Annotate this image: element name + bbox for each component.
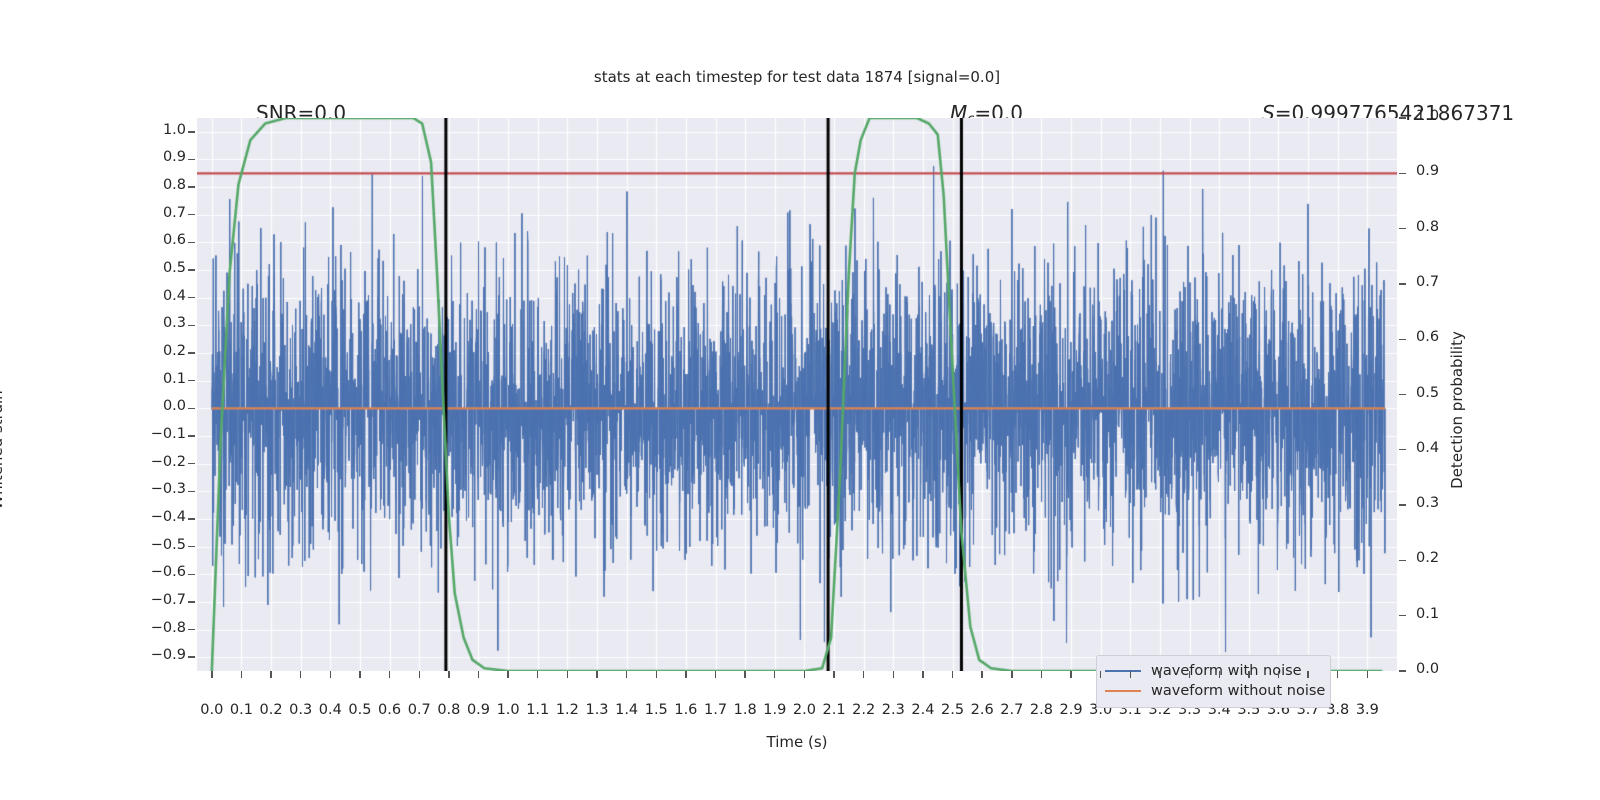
- x-tick-mark: [1159, 671, 1160, 678]
- x-tick-mark: [656, 671, 657, 678]
- x-tick-mark: [1130, 671, 1131, 678]
- y-tick-mark-left: [188, 269, 195, 270]
- x-tick-mark: [1070, 671, 1071, 678]
- y-tick-mark-right: [1399, 173, 1406, 174]
- x-tick-mark: [1367, 671, 1368, 678]
- x-tick-mark: [596, 671, 597, 678]
- y-tick-mark-right: [1399, 283, 1406, 284]
- y-tick-mark-left: [188, 491, 195, 492]
- legend-item[interactable]: waveform without noise: [1105, 681, 1322, 701]
- x-tick-mark: [1041, 671, 1042, 678]
- legend-item[interactable]: waveform with noise: [1105, 661, 1322, 681]
- x-tick-mark: [893, 671, 894, 678]
- x-tick-mark: [1011, 671, 1012, 678]
- y-tick-mark-left: [188, 601, 195, 602]
- x-tick-mark: [1248, 671, 1249, 678]
- y-tick-mark-left: [188, 574, 195, 575]
- x-tick-mark: [922, 671, 923, 678]
- plot-canvas: [197, 118, 1397, 671]
- legend-swatch-waveform-without-noise: [1105, 690, 1141, 693]
- y-tick-mark-right: [1399, 615, 1406, 616]
- y-tick-mark-left: [188, 242, 195, 243]
- x-tick-mark: [1307, 671, 1308, 678]
- x-tick-mark: [478, 671, 479, 678]
- y-tick-mark-left: [188, 546, 195, 547]
- x-tick-mark: [744, 671, 745, 678]
- x-tick-mark: [685, 671, 686, 678]
- y-tick-mark-left: [188, 297, 195, 298]
- x-tick-mark: [389, 671, 390, 678]
- y-tick-mark-left: [188, 186, 195, 187]
- x-tick-mark: [804, 671, 805, 678]
- x-tick-mark: [567, 671, 568, 678]
- x-tick-mark: [1189, 671, 1190, 678]
- y-tick-mark-left: [188, 463, 195, 464]
- plot-area: [197, 118, 1397, 671]
- legend: waveform with noise waveform without noi…: [1096, 655, 1331, 708]
- y-tick-mark-right: [1399, 560, 1406, 561]
- x-tick-mark: [626, 671, 627, 678]
- x-tick-mark: [863, 671, 864, 678]
- y-tick-mark-left: [188, 408, 195, 409]
- x-tick-mark: [715, 671, 716, 678]
- y-tick-mark-left: [188, 325, 195, 326]
- x-tick-mark: [537, 671, 538, 678]
- x-tick-mark: [419, 671, 420, 678]
- y-tick-mark-left: [188, 629, 195, 630]
- x-tick-mark: [300, 671, 301, 678]
- legend-label-waveform-without-noise: waveform without noise: [1151, 683, 1325, 699]
- x-tick-mark: [1337, 671, 1338, 678]
- chart-figure: stats at each timestep for test data 187…: [0, 0, 1600, 800]
- x-tick-mark: [270, 671, 271, 678]
- y-tick-mark-left: [188, 352, 195, 353]
- x-tick-label: 3.9: [1337, 702, 1397, 718]
- x-tick-mark: [359, 671, 360, 678]
- y-tick-mark-right: [1399, 504, 1406, 505]
- y-tick-mark-right: [1399, 394, 1406, 395]
- y-tick-mark-left: [188, 656, 195, 657]
- y-tick-mark-left: [188, 159, 195, 160]
- y-tick-mark-right: [1399, 339, 1406, 340]
- x-tick-mark: [241, 671, 242, 678]
- x-tick-mark: [1219, 671, 1220, 678]
- x-tick-mark: [952, 671, 953, 678]
- x-tick-mark: [211, 671, 212, 678]
- legend-swatch-waveform-with-noise: [1105, 670, 1141, 673]
- x-tick-mark: [833, 671, 834, 678]
- y-tick-mark-right: [1399, 670, 1406, 671]
- y-tick-mark-left: [188, 380, 195, 381]
- y-tick-mark-left: [188, 131, 195, 132]
- y-tick-mark-left: [188, 214, 195, 215]
- x-tick-mark: [1100, 671, 1101, 678]
- x-tick-mark: [507, 671, 508, 678]
- y-tick-mark-right: [1399, 449, 1406, 450]
- y-tick-mark-right: [1399, 228, 1406, 229]
- x-tick-mark: [448, 671, 449, 678]
- y-tick-mark-left: [188, 435, 195, 436]
- x-tick-mark: [981, 671, 982, 678]
- x-tick-mark: [774, 671, 775, 678]
- y-tick-mark-left: [188, 518, 195, 519]
- y-tick-mark-right: [1399, 117, 1406, 118]
- x-tick-mark: [1278, 671, 1279, 678]
- x-tick-mark: [330, 671, 331, 678]
